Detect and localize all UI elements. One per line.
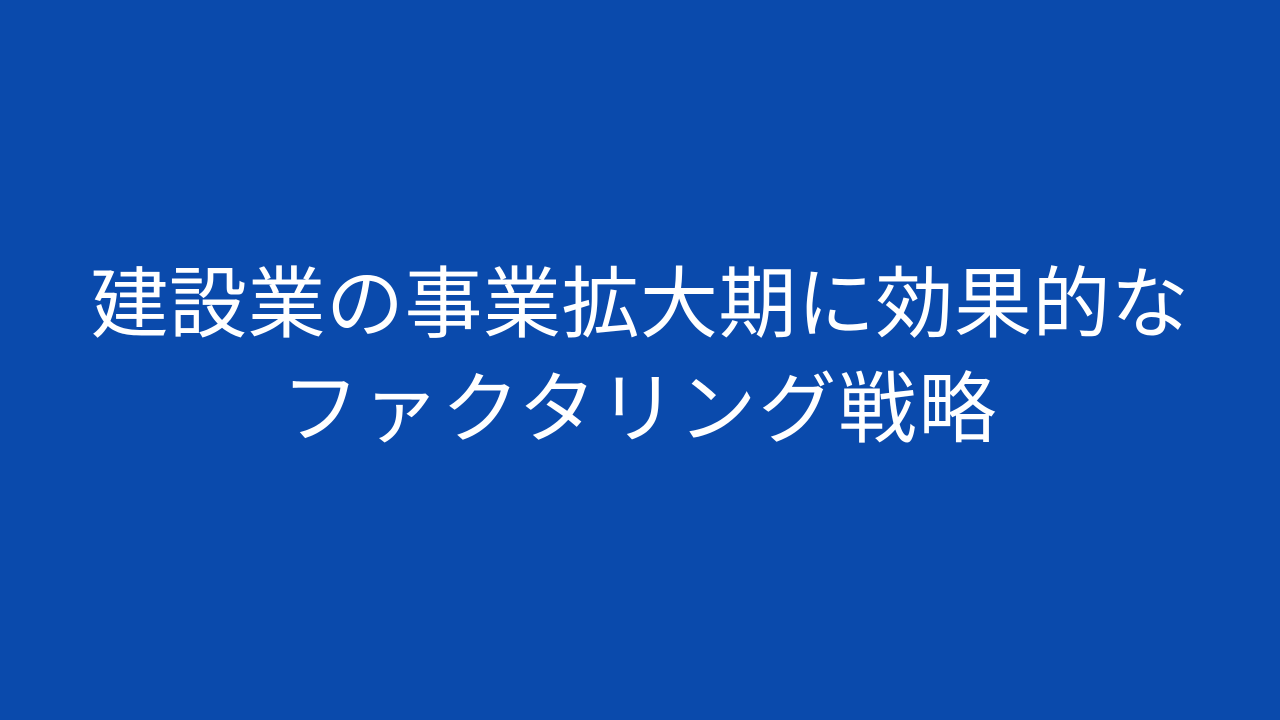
title-line-2: ファクタリング戦略	[40, 358, 1240, 463]
title-block: 建設業の事業拡大期に効果的な ファクタリング戦略	[0, 253, 1280, 463]
title-slide: 建設業の事業拡大期に効果的な ファクタリング戦略	[0, 0, 1280, 720]
title-line-1: 建設業の事業拡大期に効果的な	[40, 253, 1240, 358]
